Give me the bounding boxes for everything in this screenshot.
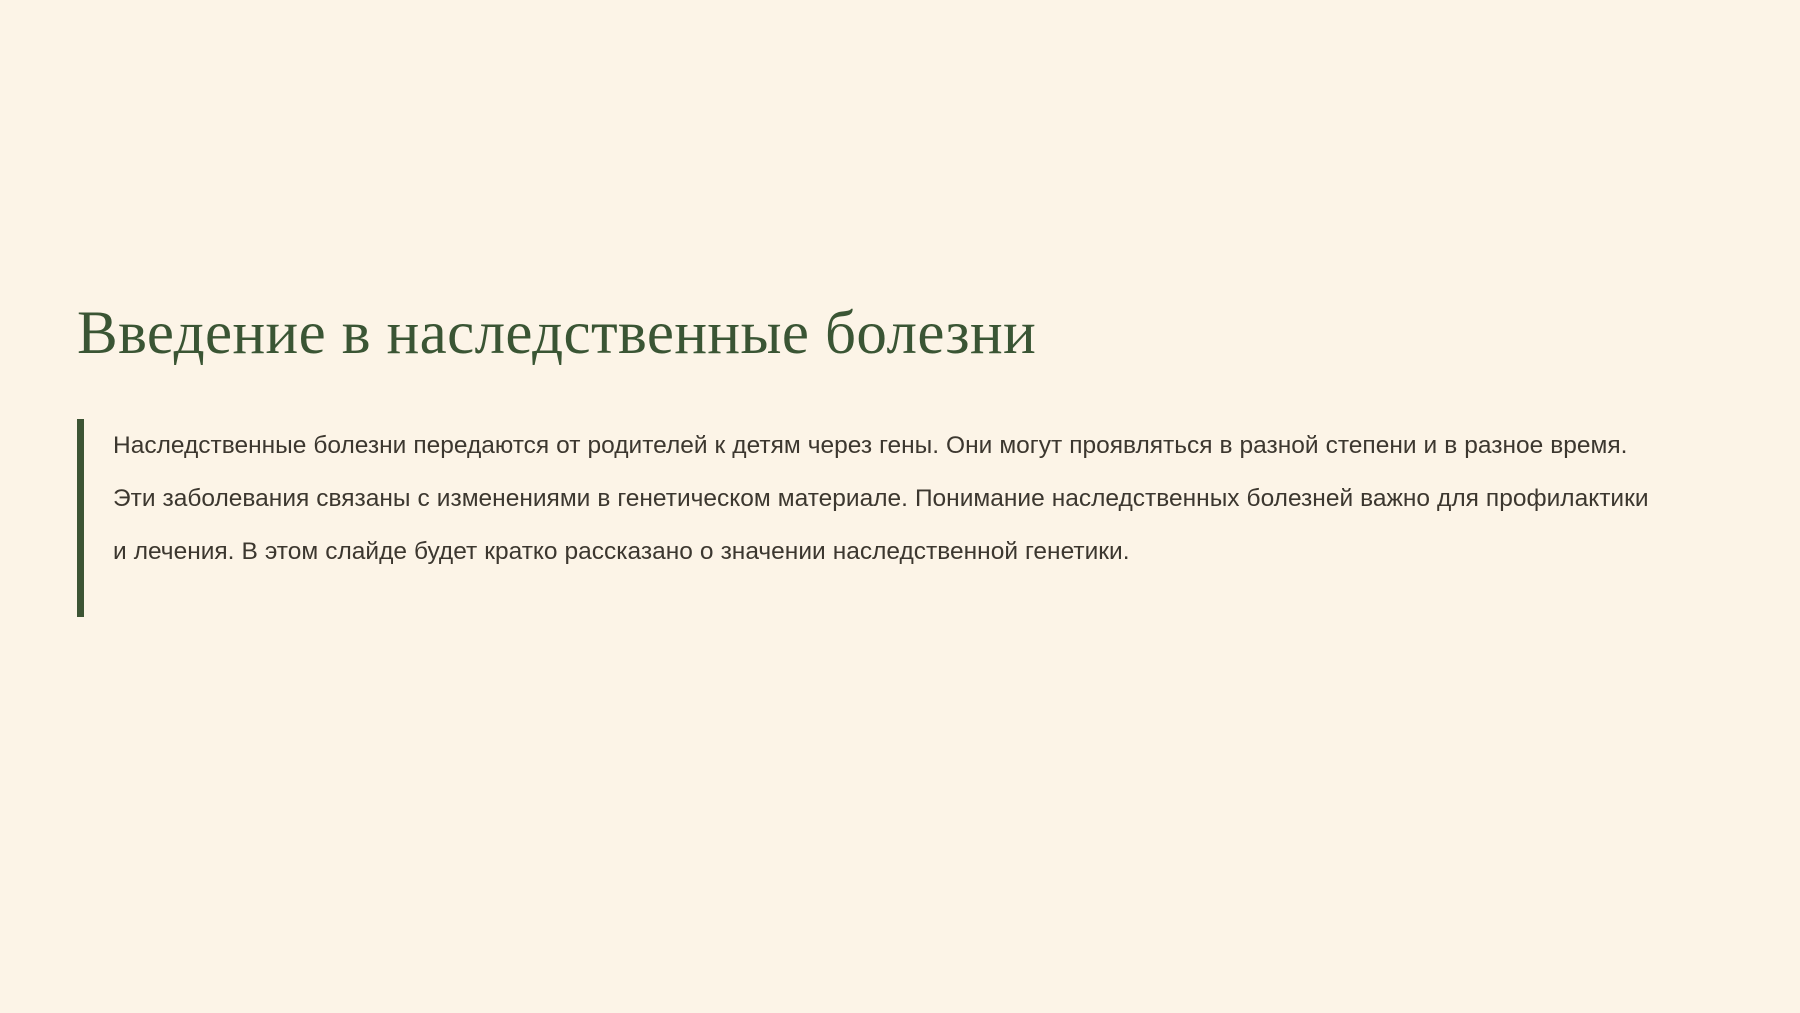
page-title: Введение в наследственные болезни — [77, 300, 1717, 368]
slide: Введение в наследственные болезни Наслед… — [0, 0, 1800, 1013]
body-block: Наследственные болезни передаются от род… — [77, 419, 1717, 617]
slide-content: Введение в наследственные болезни Наслед… — [77, 300, 1717, 617]
body-paragraph: Наследственные болезни передаются от род… — [113, 419, 1658, 578]
accent-bar — [77, 419, 84, 617]
